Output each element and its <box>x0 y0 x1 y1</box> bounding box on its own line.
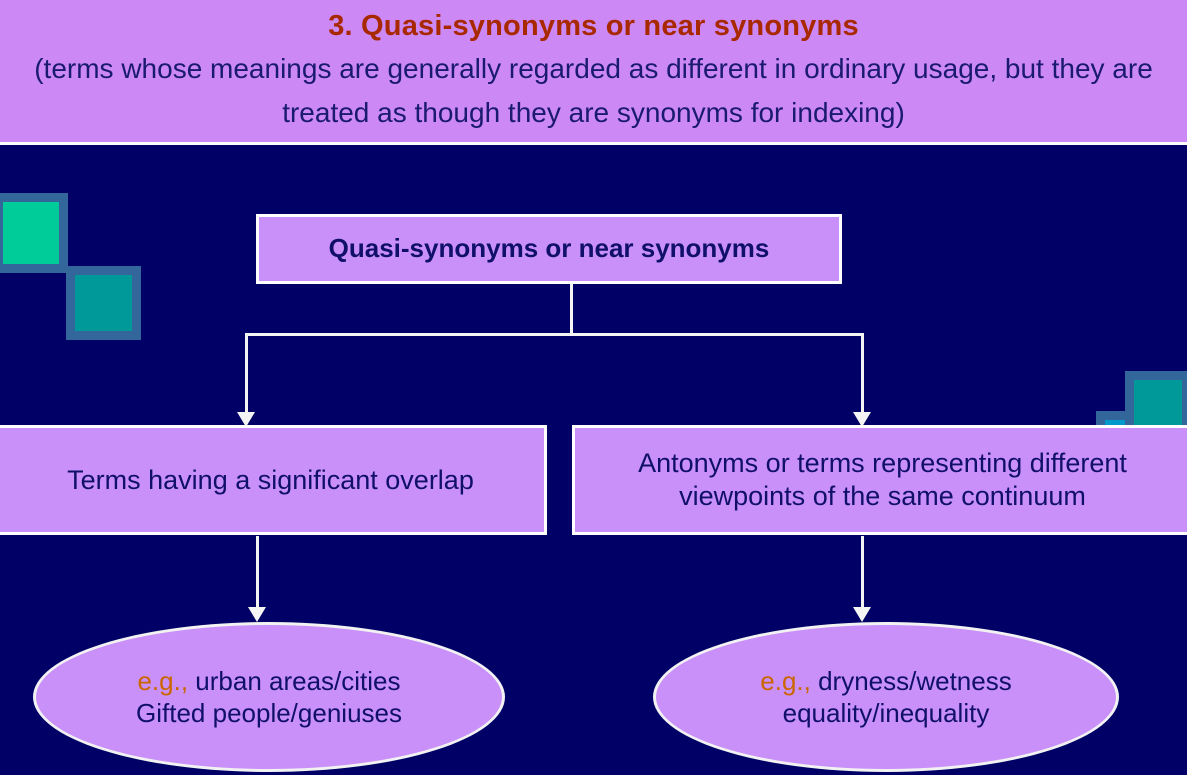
diagram-node-right-branch-label: Antonyms or terms representing different… <box>630 447 1135 513</box>
slide-canvas: 3. Quasi-synonyms or near synonyms (term… <box>0 0 1187 775</box>
decorative-square-top-left-bright-icon <box>0 193 68 273</box>
connector-to-right-branch <box>861 333 864 415</box>
diagram-node-left-example: e.g., urban areas/cities Gifted people/g… <box>33 622 505 772</box>
diagram-node-left-example-text: e.g., urban areas/cities Gifted people/g… <box>136 665 402 730</box>
diagram-node-left-branch: Terms having a significant overlap <box>0 425 547 535</box>
right-example-line2: equality/inequality <box>783 698 990 728</box>
right-example-prefix: e.g., <box>760 666 811 696</box>
connector-right-branch-to-example <box>861 536 864 610</box>
left-example-line1: urban areas/cities <box>188 666 400 696</box>
diagram-node-right-example-text: e.g., dryness/wetness equality/inequalit… <box>760 665 1011 730</box>
connector-horizontal-bar <box>245 333 864 336</box>
right-example-line1: dryness/wetness <box>811 666 1012 696</box>
connector-to-left-branch <box>245 333 248 415</box>
arrowhead-down-left-example-icon <box>248 607 266 622</box>
diagram-node-root-label: Quasi-synonyms or near synonyms <box>329 233 770 265</box>
left-example-line2: Gifted people/geniuses <box>136 698 402 728</box>
page-title: 3. Quasi-synonyms or near synonyms <box>0 0 1187 41</box>
diagram-node-right-branch-label-line2: viewpoints of the same continuum <box>679 481 1086 511</box>
page-subtitle: (terms whose meanings are generally rega… <box>0 41 1187 135</box>
left-example-prefix: e.g., <box>137 666 188 696</box>
diagram-node-root: Quasi-synonyms or near synonyms <box>256 214 842 284</box>
connector-root-stem <box>570 284 573 334</box>
slide-header: 3. Quasi-synonyms or near synonyms (term… <box>0 0 1187 145</box>
diagram-node-right-branch-label-line1: Antonyms or terms representing different <box>638 448 1127 478</box>
diagram-node-right-example: e.g., dryness/wetness equality/inequalit… <box>653 622 1119 772</box>
connector-left-branch-to-example <box>256 536 259 610</box>
diagram-node-right-branch: Antonyms or terms representing different… <box>572 425 1187 535</box>
decorative-square-top-left-dark-icon <box>66 266 141 340</box>
diagram-node-left-branch-label: Terms having a significant overlap <box>67 464 474 497</box>
arrowhead-down-right-example-icon <box>853 607 871 622</box>
